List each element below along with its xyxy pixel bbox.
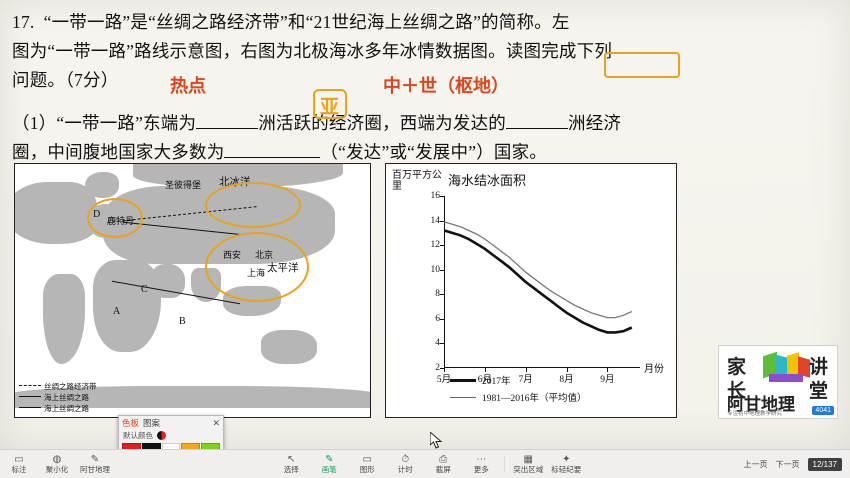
blank-west-end[interactable] [506, 128, 568, 129]
question-sub2-a: 圈，中间腹地国家大多数为 [12, 142, 224, 162]
toolbar-item-notes-label: 标轻纪要 [551, 465, 581, 474]
chart-x-tick-mark [567, 368, 568, 372]
screenshot-icon: ⎙ [439, 454, 447, 465]
chart-x-axis-label: 月份 [644, 360, 664, 375]
map-annotation-circle-arctic [205, 182, 301, 228]
annotation-underline-data [604, 52, 680, 78]
chart-y-tick-mark [440, 319, 444, 320]
annotate-icon: ▭ [14, 454, 23, 465]
minimize-icon: ◍ [53, 454, 62, 465]
toolbar-item-timer[interactable]: ⏱ 计时 [386, 450, 424, 478]
notes-icon: ✦ [562, 454, 570, 465]
toolbar-item-highlight-area[interactable]: ▦ 突出区域 [509, 450, 547, 478]
palette-subtitle-row: 默认颜色 [119, 430, 223, 441]
toolbar-item-minimize-label: 聚小化 [46, 465, 69, 474]
map-legend: 丝绸之路经济带 海上丝绸之路 海上丝绸之路 [19, 381, 97, 414]
chart-legend: 2017年 1981—2016年（平均值） [450, 373, 587, 407]
chart-y-tick-mark [440, 196, 444, 197]
annotation-middle-world: 中＋世（枢地） [383, 72, 509, 98]
question-number: 17. [12, 12, 34, 32]
map-label-b: B [179, 316, 186, 327]
question-sub1-b: 洲活跃的经济圈，西端为发达的 [258, 113, 506, 133]
toolbar-item-pen[interactable]: ✎ 画笔 [310, 450, 348, 478]
toolbar-item-timer-label: 计时 [398, 465, 413, 474]
chart-x-tick-mark [485, 368, 486, 372]
prev-page-button[interactable]: 上一页 [744, 459, 768, 470]
toolbar-item-pen-label: 画笔 [322, 465, 337, 474]
question-sub1-c: 洲经济 [568, 113, 621, 133]
chart-series-svg [444, 196, 640, 368]
map-figure[interactable]: 圣彼得堡 北冰洋 鹿特丹 D 太平洋 西安 北京 上海 C B A 丝绸之路经济… [14, 163, 371, 418]
question-sub2-b: （“发达”或“发展中”）国家。 [320, 142, 547, 162]
map-legend-item-1: 海上丝绸之路 [19, 392, 97, 403]
slide-canvas[interactable]: 17. “一带一路”是“丝绸之路经济带”和“21世纪海上丝绸之路”的简称。左 图… [0, 0, 850, 450]
toolbar-pager[interactable]: 上一页 下一页 12/137 [744, 458, 850, 471]
map-annotation-circle-china [205, 232, 309, 302]
more-icon: ⋯ [476, 454, 486, 465]
map-label-c: C [141, 284, 148, 295]
channel-logo: 家 长 讲 堂 阿甘地理 专注初中地理教学研究 4041 [718, 345, 838, 419]
toolbar-item-shape-label: 图形 [360, 465, 375, 474]
user-pen-icon: ✎ [91, 454, 99, 465]
toolbar-item-more[interactable]: ⋯ 更多 [462, 450, 500, 478]
chart-plot-area: 2468101214165月6月7月8月9月 [444, 196, 640, 368]
chart-x-tick-mark [526, 368, 527, 372]
highlight-area-icon: ▦ [524, 454, 533, 465]
annotation-asia-box [313, 89, 347, 119]
chart-y-unit-label: 百万平方公里 [392, 170, 444, 192]
question-line-1-text: “一带一路”是“丝绸之路经济带”和“21世纪海上丝绸之路”的简称。左 [44, 12, 570, 32]
chart-y-tick-label: 12 [431, 240, 441, 250]
chart-figure[interactable]: 百万平方公里 海水结冰面积 2468101214165月6月7月8月9月 月份 … [385, 163, 677, 418]
map-annotation-circle-rotterdam [87, 198, 143, 238]
palette-tab-pattern[interactable]: 图案 [143, 417, 160, 429]
cursor-icon: ↖ [287, 454, 295, 465]
logo-shape-purple [769, 374, 803, 382]
toolbar-item-user-label: 阿甘地理 [80, 465, 110, 474]
next-page-button[interactable]: 下一页 [776, 459, 800, 470]
timer-icon: ⏱ [401, 454, 409, 465]
map-label-a: A [113, 306, 120, 317]
chart-y-tick-mark [440, 294, 444, 295]
landmass-greenland [85, 172, 119, 198]
chart-y-tick-mark [440, 270, 444, 271]
toolbar-item-user[interactable]: ✎ 阿甘地理 [76, 450, 114, 478]
page-indicator: 12/137 [808, 458, 842, 471]
toolbar-left-group[interactable]: ▭ 标注 ◍ 聚小化 ✎ 阿甘地理 [0, 450, 114, 478]
toolbar-item-minimize[interactable]: ◍ 聚小化 [38, 450, 76, 478]
toolbar-item-screenshot-label: 截屏 [436, 465, 451, 474]
toolbar-item-select-label: 选择 [284, 465, 299, 474]
chart-x-tick-mark [607, 368, 608, 372]
shape-icon: ▭ [363, 454, 372, 465]
chart-legend-item-1: 1981—2016年（平均值） [450, 390, 587, 404]
blank-country-type[interactable] [224, 157, 320, 158]
question-sub1-a: （1）“一带一路”东端为 [12, 113, 196, 133]
toolbar-item-screenshot[interactable]: ⎙ 截屏 [424, 450, 462, 478]
chart-x-tick-label: 9月 [600, 371, 614, 385]
logo-badge: 4041 [812, 406, 834, 415]
chart-legend-item-0: 2017年 [450, 373, 587, 387]
chart-x-tick-label: 5月 [437, 371, 451, 385]
toolbar-item-shape[interactable]: ▭ 图形 [348, 450, 386, 478]
palette-preview-swatch [157, 431, 166, 440]
landmass-north-america [14, 182, 97, 244]
toolbar-item-select[interactable]: ↖ 选择 [272, 450, 310, 478]
toolbar-item-annotate[interactable]: ▭ 标注 [0, 450, 38, 478]
chart-y-tick-mark [440, 221, 444, 222]
logo-tagline: 专注初中地理教学研究 [727, 409, 782, 417]
palette-subtitle: 默认颜色 [123, 430, 153, 441]
map-legend-item-2: 海上丝绸之路 [19, 403, 97, 414]
toolbar-center-group[interactable]: ↖ 选择 ✎ 画笔 ▭ 图形 ⏱ 计时 ⎙ 截屏 ⋯ 更多 ▦ 突出区域 ✦ [272, 450, 585, 478]
map-legend-item-0: 丝绸之路经济带 [19, 381, 97, 392]
question-line-1: 17. “一带一路”是“丝绸之路经济带”和“21世纪海上丝绸之路”的简称。左 [12, 8, 838, 37]
chart-x-tick-mark [444, 368, 445, 372]
chart-y-tick-label: 16 [431, 191, 441, 201]
landmass-australia [261, 330, 317, 364]
palette-titlebar[interactable]: 色板 图案 ✕ [119, 416, 223, 430]
chart-y-tick-mark [440, 343, 444, 344]
close-icon[interactable]: ✕ [212, 418, 220, 429]
toolbar-item-highlight-area-label: 突出区域 [513, 465, 543, 474]
toolbar-item-annotate-label: 标注 [12, 465, 27, 474]
logo-char-jia: 家 [727, 352, 746, 379]
map-label-saint-petersburg: 圣彼得堡 [165, 178, 201, 191]
toolbar-item-notes[interactable]: ✦ 标轻纪要 [547, 450, 585, 478]
chart-y-tick-label: 10 [431, 265, 441, 275]
chart-series-line [444, 222, 632, 318]
pen-icon: ✎ [325, 454, 333, 465]
chart-y-tick-mark [440, 245, 444, 246]
toolbar-item-more-label: 更多 [474, 465, 489, 474]
logo-char-tang: 堂 [809, 376, 828, 403]
annotation-hot-point: 热点 [170, 72, 206, 98]
palette-tab-color[interactable]: 色板 [122, 417, 139, 429]
chart-title: 海水结冰面积 [448, 170, 526, 189]
blank-east-end[interactable] [196, 128, 258, 129]
question-sub1-line: （1）“一带一路”东端为洲活跃的经济圈，西端为发达的洲经济 [12, 109, 838, 138]
chart-y-tick-label: 14 [431, 216, 441, 226]
toolbar-divider [504, 456, 505, 472]
question-line-2: 图为“一带一路”路线示意图，右图为北极海冰多年冰情数据图。读图完成下列 [12, 37, 838, 66]
logo-char-jiang: 讲 [809, 352, 828, 379]
bottom-toolbar[interactable]: ▭ 标注 ◍ 聚小化 ✎ 阿甘地理 ↖ 选择 ✎ 画笔 ▭ 图形 ⏱ 计时 [0, 449, 850, 478]
